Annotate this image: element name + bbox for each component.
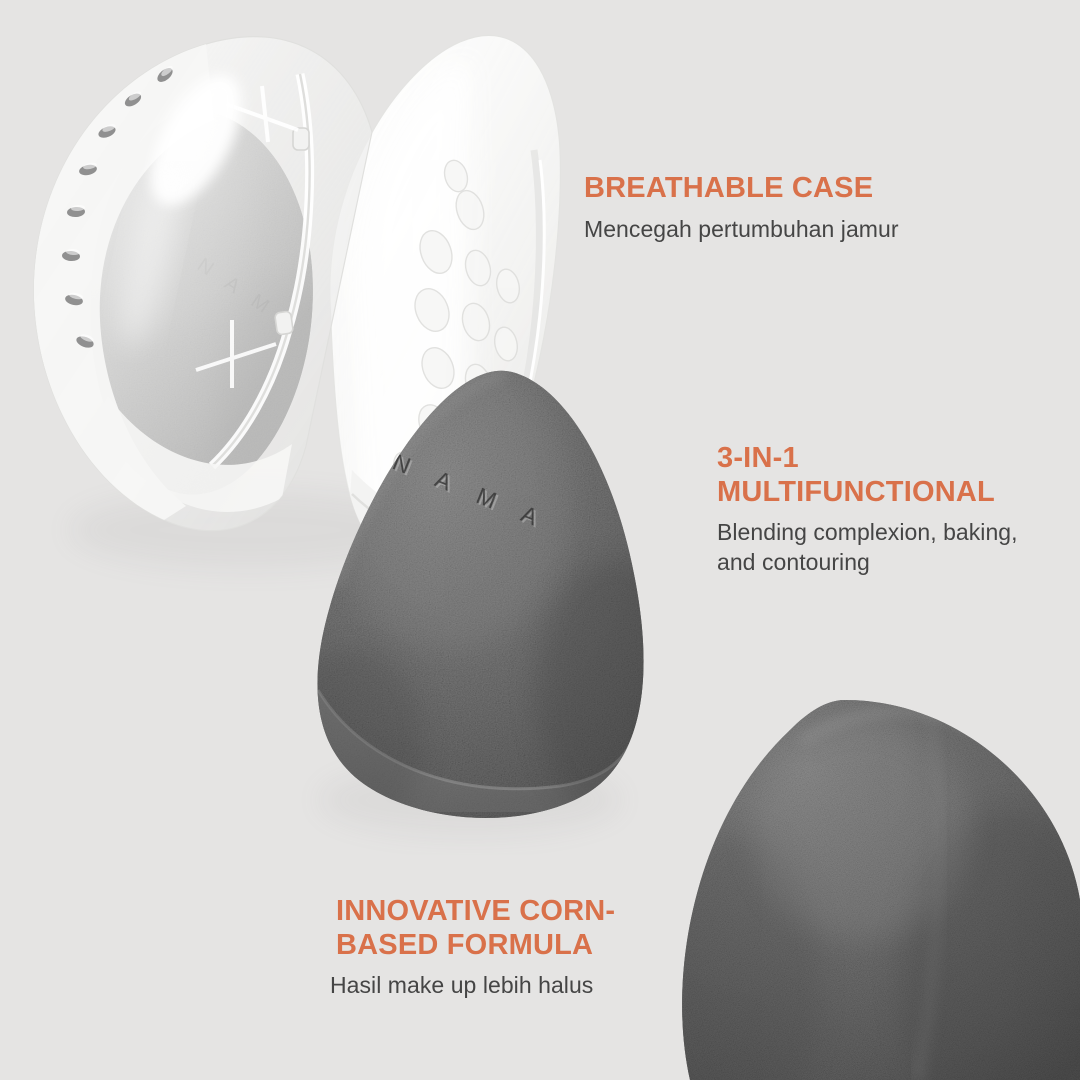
feature-description: Blending complexion, baking, and contour…	[717, 518, 1018, 577]
feature-title: INNOVATIVE CORN- BASED FORMULA	[336, 895, 615, 962]
feature-title: BREATHABLE CASE	[584, 172, 899, 206]
feature-title: 3-IN-1 MULTIFUNCTIONAL	[717, 442, 1018, 509]
feature-breathable-case: BREATHABLE CASE Mencegah pertumbuhan jam…	[584, 172, 899, 244]
feature-multifunctional: 3-IN-1 MULTIFUNCTIONAL Blending complexi…	[717, 442, 1018, 577]
product-feature-graphic: N A M A	[0, 0, 1080, 1080]
feature-corn-formula: INNOVATIVE CORN- BASED FORMULA Hasil mak…	[336, 895, 615, 1001]
feature-description: Mencegah pertumbuhan jamur	[584, 215, 899, 244]
feature-description: Hasil make up lebih halus	[330, 971, 615, 1000]
